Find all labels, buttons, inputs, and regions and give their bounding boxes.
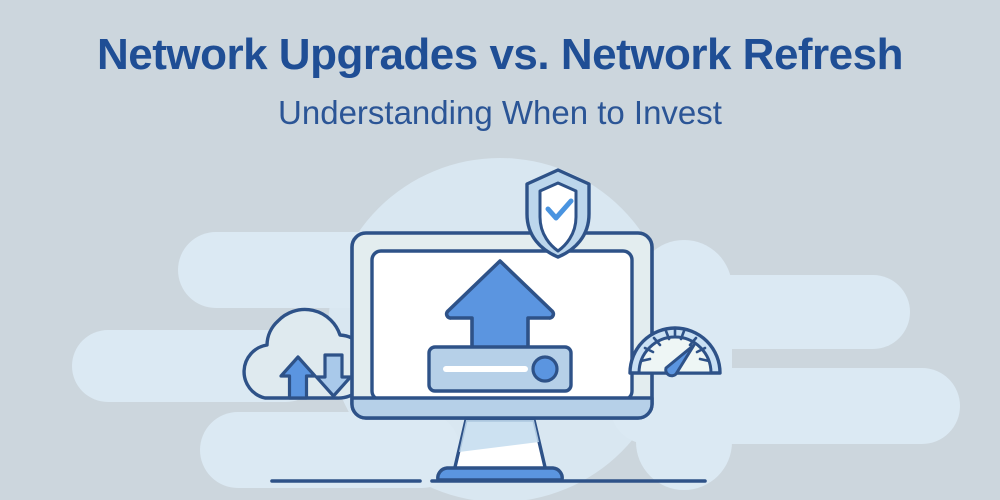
monitor-base-bar xyxy=(352,398,652,418)
shield-check-icon xyxy=(527,170,589,257)
monitor-stand-base xyxy=(438,468,562,480)
background-pill-lower-left xyxy=(200,412,460,488)
progress-bar-knob xyxy=(533,357,557,381)
heading-block: Network Upgrades vs. Network Refresh Und… xyxy=(0,0,1000,132)
page-title: Network Upgrades vs. Network Refresh xyxy=(0,0,1000,79)
banner-root: Network Upgrades vs. Network Refresh Und… xyxy=(0,0,1000,500)
progress-bar-track xyxy=(443,366,528,372)
page-subtitle: Understanding When to Invest xyxy=(0,79,1000,131)
